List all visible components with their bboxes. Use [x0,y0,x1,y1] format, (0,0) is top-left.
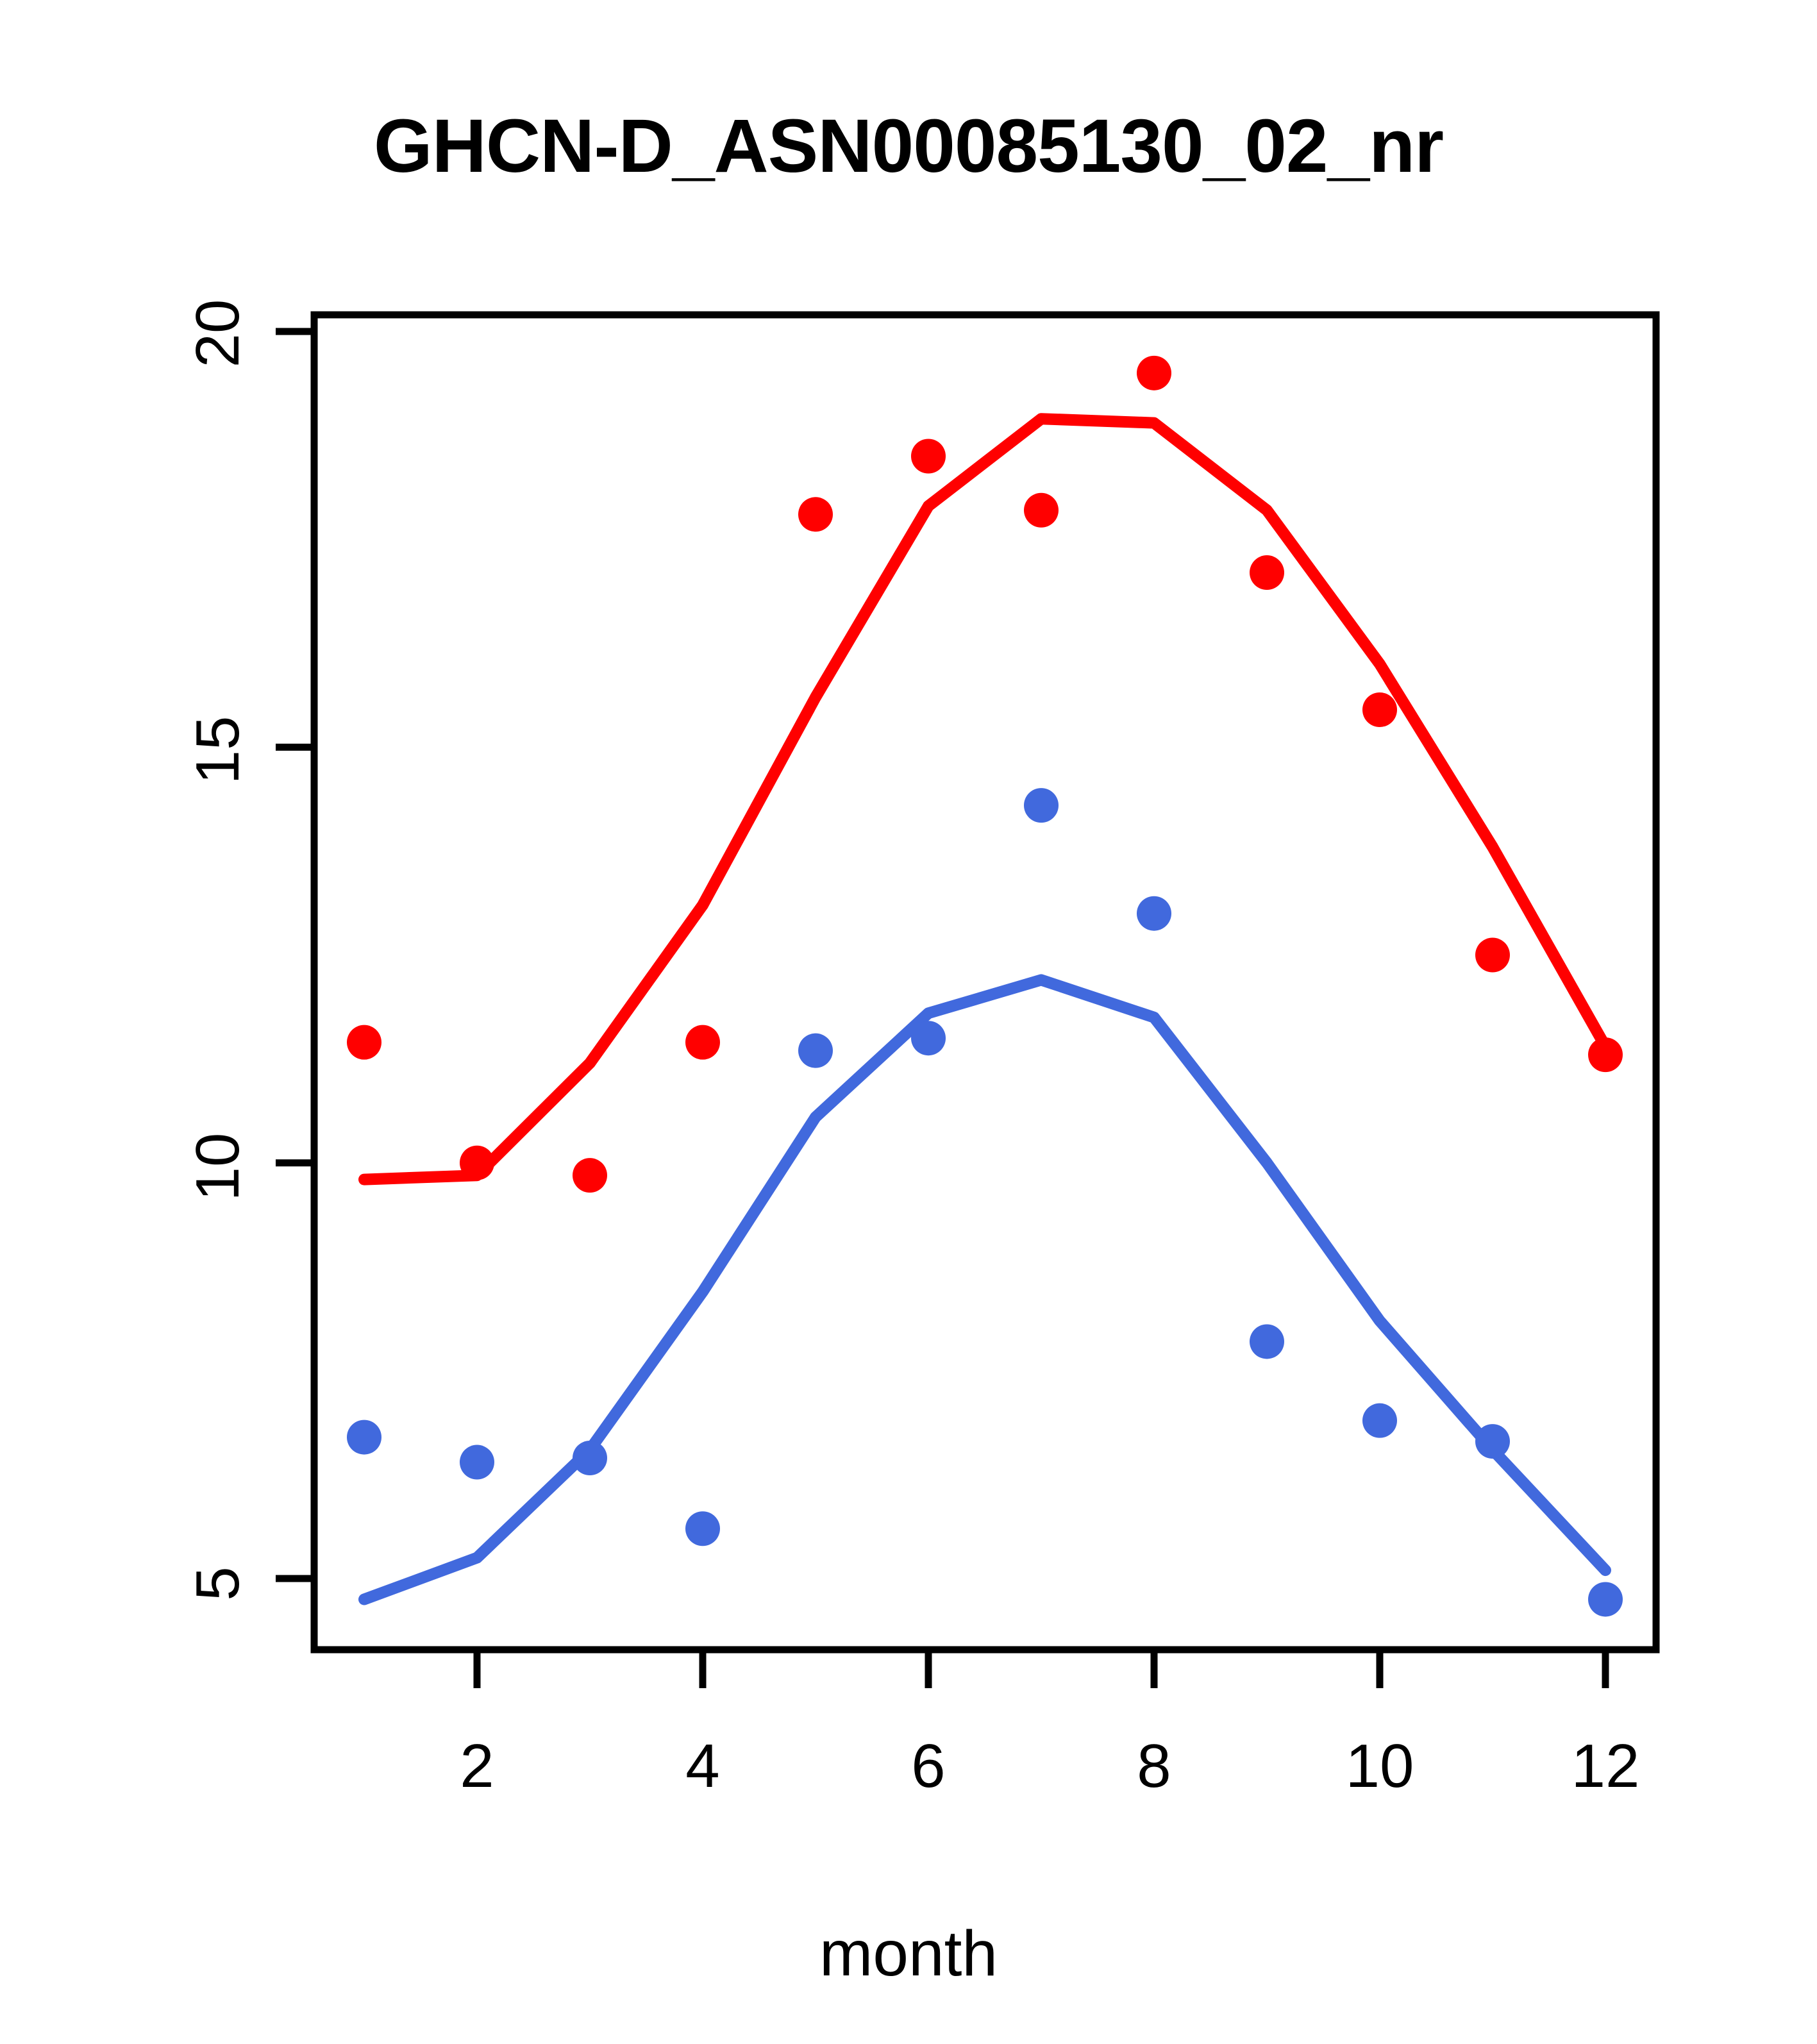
series-blue-line [364,980,1605,1599]
y-tick-label-15: 15 [183,699,253,801]
y-tick-label-5: 5 [183,1532,253,1635]
series-red-line [364,419,1605,1179]
x-tick-label-10: 10 [1316,1731,1444,1802]
data-point [685,1511,720,1546]
data-point [1588,1037,1623,1072]
data-point [911,1021,946,1055]
data-point [911,439,946,474]
x-axis-ticks [477,1650,1605,1688]
data-point [1588,1582,1623,1616]
data-point [573,1441,607,1475]
data-point [1475,1424,1510,1459]
data-point [1137,356,1171,390]
data-point [460,1445,494,1480]
y-tick-label-10: 10 [183,1116,253,1218]
data-point [1475,938,1510,973]
data-point [1362,692,1397,727]
series-red-points [347,356,1623,1193]
data-point [460,1146,494,1180]
x-tick-label-12: 12 [1541,1731,1670,1802]
x-tick-label-6: 6 [864,1731,992,1802]
data-point [347,1420,381,1455]
chart-canvas: GHCN-D_ASN00085130_02_nr 5 10 15 20 2 4 … [0,0,1817,2044]
data-point [1362,1403,1397,1438]
x-tick-label-8: 8 [1090,1731,1218,1802]
data-point [573,1158,607,1193]
data-point [1250,1324,1284,1359]
data-point [1024,493,1059,528]
x-tick-label-2: 2 [413,1731,541,1802]
x-tick-label-4: 4 [639,1731,767,1802]
y-axis-ticks [276,331,314,1579]
plot-frame [314,315,1656,1650]
x-axis-title: month [0,1917,1817,1991]
data-point [1250,555,1284,590]
data-point [347,1025,381,1060]
data-point [1137,896,1171,931]
y-tick-label-20: 20 [183,282,253,385]
data-point [685,1025,720,1060]
data-point [1024,788,1059,823]
data-point [798,1034,833,1068]
data-point [798,497,833,532]
